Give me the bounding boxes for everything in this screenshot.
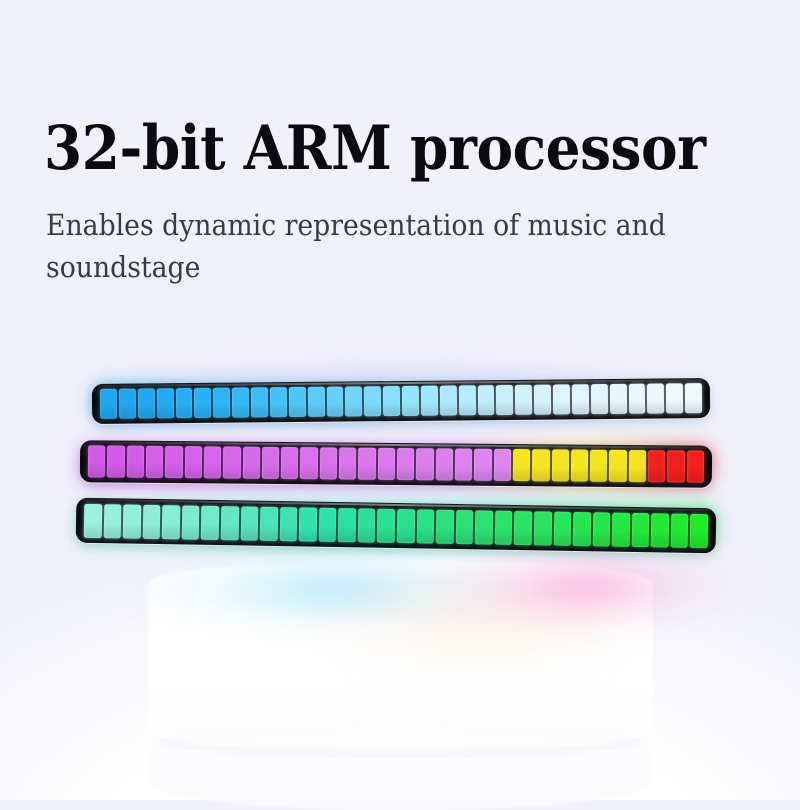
led-segment bbox=[628, 384, 645, 414]
led-segment bbox=[455, 449, 473, 481]
led-segment bbox=[397, 448, 415, 480]
led-segment bbox=[496, 385, 513, 415]
led-segment bbox=[326, 387, 343, 417]
led-segment bbox=[221, 506, 239, 540]
led-segment bbox=[685, 383, 702, 413]
led-segment bbox=[514, 510, 532, 544]
led-segment bbox=[609, 384, 626, 414]
pedestal-bottom-edge bbox=[160, 726, 640, 756]
led-segment bbox=[591, 384, 608, 414]
led-segment bbox=[534, 511, 552, 545]
led-segment bbox=[474, 449, 492, 481]
led-segment bbox=[436, 509, 454, 543]
led-segment bbox=[240, 506, 258, 540]
led-segment bbox=[532, 449, 550, 481]
led-segment bbox=[648, 450, 666, 482]
led-segment bbox=[299, 507, 317, 541]
led-segment bbox=[358, 508, 376, 542]
led-segment bbox=[609, 450, 627, 482]
led-segment bbox=[592, 512, 610, 546]
led-bar-blue bbox=[92, 378, 710, 424]
led-segment bbox=[402, 386, 419, 416]
led-segment bbox=[383, 386, 400, 416]
led-segment bbox=[690, 513, 708, 547]
led-segment bbox=[534, 385, 551, 415]
led-segment bbox=[260, 506, 278, 540]
led-segment bbox=[345, 386, 362, 416]
led-segment bbox=[320, 447, 338, 479]
led-segment bbox=[201, 505, 219, 539]
led-segment bbox=[165, 446, 183, 478]
led-segment bbox=[493, 449, 511, 481]
led-segment bbox=[629, 450, 647, 482]
led-segment bbox=[126, 446, 144, 478]
led-segment bbox=[364, 386, 381, 416]
led-segment bbox=[107, 445, 125, 477]
led-segment bbox=[590, 450, 608, 482]
led-segment bbox=[477, 385, 494, 415]
led-segment bbox=[397, 509, 415, 543]
product-promo-image: 32-bit ARM processor Enables dynamic rep… bbox=[0, 0, 800, 800]
led-segment bbox=[318, 507, 336, 541]
led-segment bbox=[338, 508, 356, 542]
led-segment bbox=[251, 387, 268, 417]
led-segment bbox=[213, 388, 230, 418]
led-segment bbox=[119, 389, 136, 419]
led-segment bbox=[416, 448, 434, 480]
led-segment bbox=[184, 446, 202, 478]
led-segment bbox=[182, 505, 200, 539]
led-segment bbox=[262, 447, 280, 479]
led-segment bbox=[573, 511, 591, 545]
led-segment bbox=[103, 504, 121, 538]
led-segment bbox=[455, 509, 473, 543]
led-segment bbox=[270, 387, 287, 417]
led-segment bbox=[421, 386, 438, 416]
led-segment bbox=[138, 388, 155, 418]
led-bar-purple-yellow-red bbox=[80, 440, 712, 488]
led-segment bbox=[440, 385, 457, 415]
led-segment bbox=[175, 388, 192, 418]
led-segment bbox=[204, 446, 222, 478]
led-segment bbox=[631, 512, 649, 546]
led-segment bbox=[687, 451, 705, 483]
led-segment bbox=[100, 389, 117, 419]
led-segment bbox=[513, 449, 531, 481]
led-segment bbox=[142, 504, 160, 538]
led-segment bbox=[495, 510, 513, 544]
led-segment bbox=[553, 384, 570, 414]
led-segment bbox=[232, 387, 249, 417]
led-segment bbox=[435, 448, 453, 480]
led-segment bbox=[88, 445, 106, 477]
led-segment bbox=[242, 447, 260, 479]
led-segment bbox=[551, 449, 569, 481]
led-segment bbox=[146, 446, 164, 478]
led-segment bbox=[162, 505, 180, 539]
led-segment bbox=[553, 511, 571, 545]
led-segment bbox=[475, 510, 493, 544]
led-segment bbox=[156, 388, 173, 418]
led-segment bbox=[300, 447, 318, 479]
led-segment bbox=[84, 503, 102, 537]
led-segment bbox=[307, 387, 324, 417]
led-segment bbox=[358, 448, 376, 480]
led-segment bbox=[572, 384, 589, 414]
led-segment bbox=[515, 385, 532, 415]
page-subtitle: Enables dynamic representation of music … bbox=[46, 204, 718, 288]
page-title: 32-bit ARM processor bbox=[44, 116, 706, 182]
led-segment bbox=[651, 513, 669, 547]
led-segment bbox=[339, 448, 357, 480]
led-segment bbox=[416, 509, 434, 543]
ambient-glow-pink bbox=[420, 540, 750, 635]
led-segment bbox=[666, 383, 683, 413]
led-segment bbox=[289, 387, 306, 417]
led-segment bbox=[194, 388, 211, 418]
led-segment bbox=[281, 447, 299, 479]
led-segment bbox=[123, 504, 141, 538]
led-segment bbox=[279, 507, 297, 541]
led-segment bbox=[377, 508, 395, 542]
led-segment bbox=[647, 383, 664, 413]
led-segment bbox=[667, 450, 685, 482]
led-segment bbox=[671, 513, 689, 547]
led-segment bbox=[612, 512, 630, 546]
led-segment bbox=[223, 446, 241, 478]
led-segment bbox=[571, 450, 589, 482]
led-segment bbox=[458, 385, 475, 415]
led-segment bbox=[378, 448, 396, 480]
